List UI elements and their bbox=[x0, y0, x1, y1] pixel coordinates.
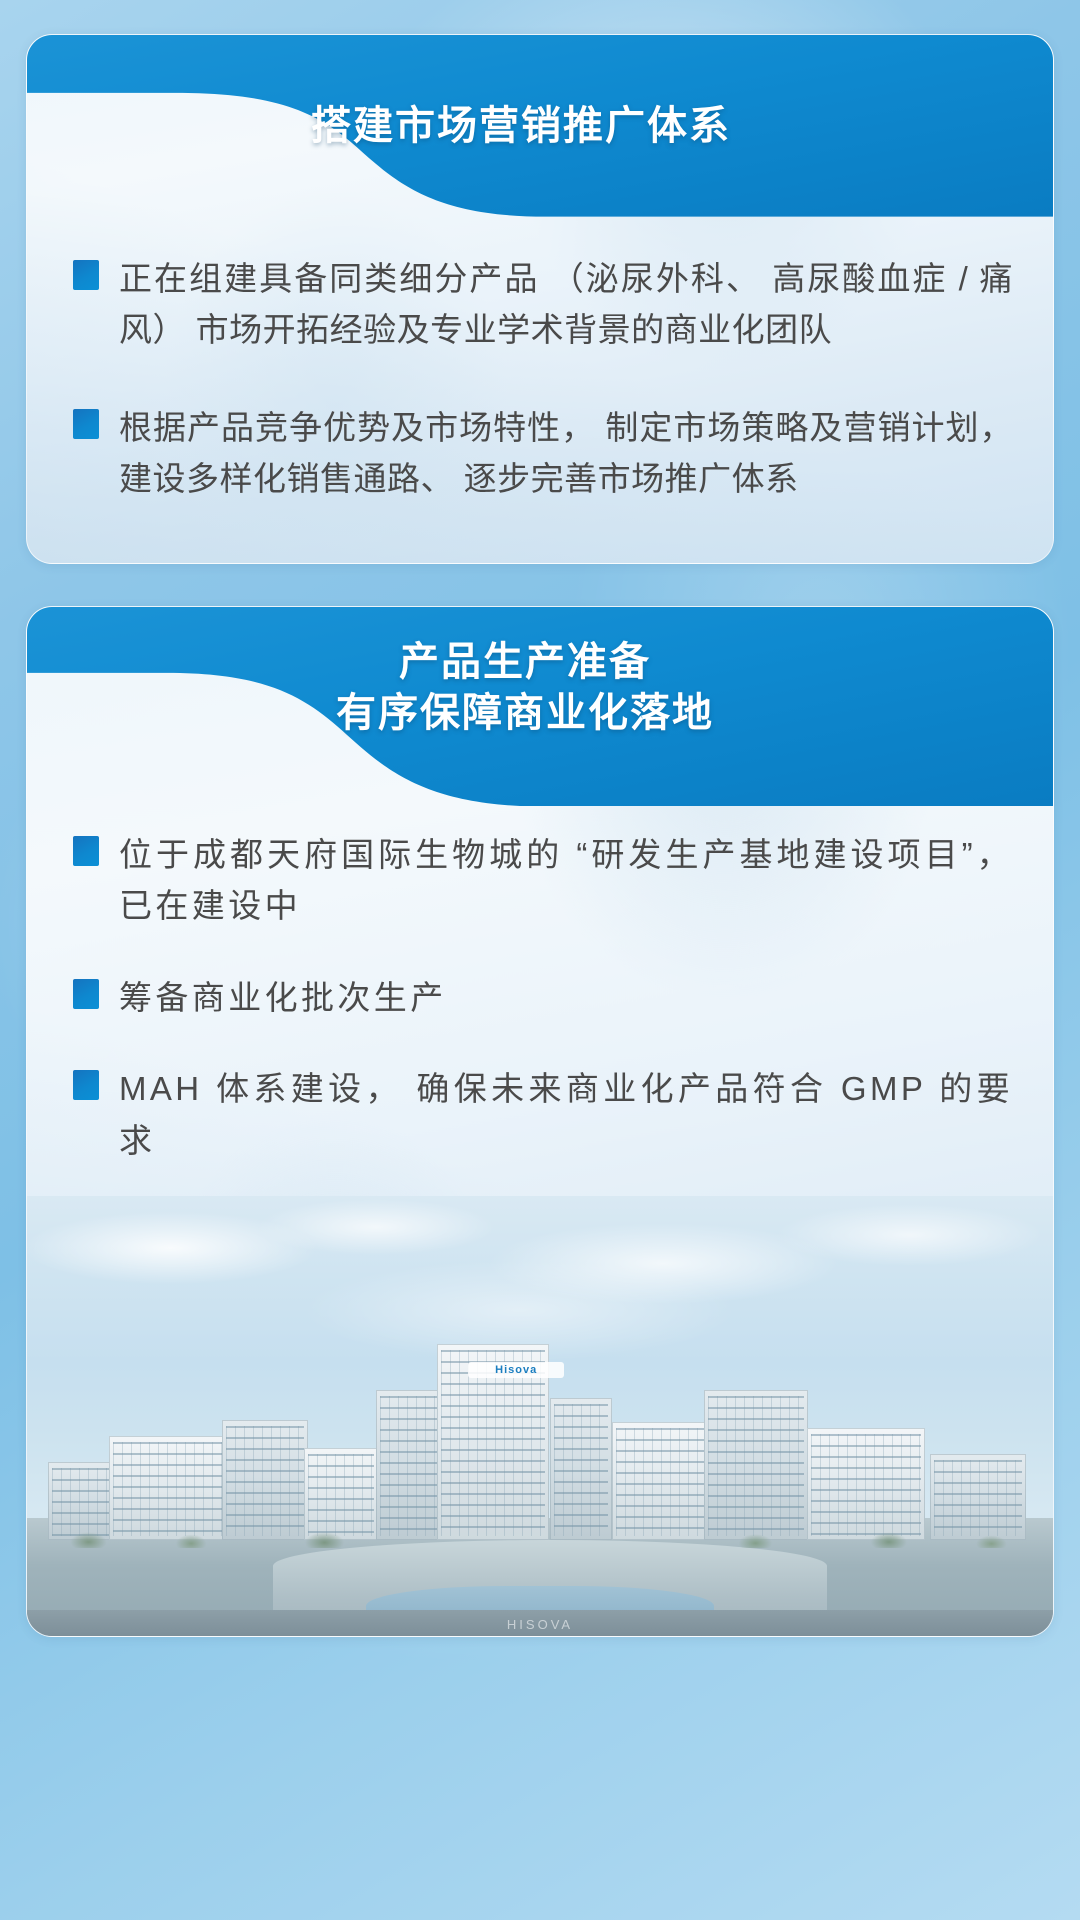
square-bullet-icon bbox=[73, 836, 99, 866]
bullet-text: 正在组建具备同类细分产品 （泌尿外科、 高尿酸血症 / 痛风） 市场开拓经验及专… bbox=[119, 253, 1013, 356]
card1-title: 搭建市场营销推广体系 bbox=[27, 93, 1053, 151]
list-item: 位于成都天府国际生物城的 “研发生产基地建设项目”， 已在建设中 bbox=[73, 829, 1013, 932]
card2-bullet-list: 位于成都天府国际生物城的 “研发生产基地建设项目”， 已在建设中 筹备商业化批次… bbox=[27, 807, 1053, 1196]
card2-title-line-1: 产品生产准备 bbox=[27, 637, 1023, 688]
bullet-text: 根据产品竞争优势及市场特性， 制定市场策略及营销计划， 建设多样化销售通路、 逐… bbox=[119, 402, 1013, 505]
card-production-readiness: 产品生产准备 有序保障商业化落地 位于成都天府国际生物城的 “研发生产基地建设项… bbox=[26, 606, 1054, 1637]
square-bullet-icon bbox=[73, 1070, 99, 1100]
card-divider-space bbox=[26, 564, 1054, 606]
list-item: 正在组建具备同类细分产品 （泌尿外科、 高尿酸血症 / 痛风） 市场开拓经验及专… bbox=[73, 253, 1013, 356]
photo-trees bbox=[27, 1518, 1053, 1548]
card2-title-line-2: 有序保障商业化落地 bbox=[27, 688, 1023, 739]
card1-header-banner: 搭建市场营销推广体系 bbox=[27, 35, 1053, 217]
square-bullet-icon bbox=[73, 409, 99, 439]
list-item: 筹备商业化批次生产 bbox=[73, 972, 1013, 1023]
bullet-text: MAH 体系建设， 确保未来商业化产品符合 GMP 的要求 bbox=[119, 1063, 1013, 1166]
card-marketing-system: 搭建市场营销推广体系 正在组建具备同类细分产品 （泌尿外科、 高尿酸血症 / 痛… bbox=[26, 34, 1054, 564]
bullet-text: 位于成都天府国际生物城的 “研发生产基地建设项目”， 已在建设中 bbox=[119, 829, 1013, 932]
square-bullet-icon bbox=[73, 260, 99, 290]
campus-photo: Hisova HISOVA bbox=[27, 1196, 1053, 1636]
card2-header-banner: 产品生产准备 有序保障商业化落地 bbox=[27, 607, 1053, 807]
card1-bullet-list: 正在组建具备同类细分产品 （泌尿外科、 高尿酸血症 / 痛风） 市场开拓经验及专… bbox=[27, 217, 1053, 563]
photo-watermark: HISOVA bbox=[507, 1617, 573, 1632]
card2-title: 产品生产准备 有序保障商业化落地 bbox=[27, 637, 1053, 739]
poster-page: 搭建市场营销推广体系 正在组建具备同类细分产品 （泌尿外科、 高尿酸血症 / 痛… bbox=[0, 0, 1080, 1920]
bullet-text: 筹备商业化批次生产 bbox=[119, 972, 447, 1023]
list-item: MAH 体系建设， 确保未来商业化产品符合 GMP 的要求 bbox=[73, 1063, 1013, 1166]
list-item: 根据产品竞争优势及市场特性， 制定市场策略及营销计划， 建设多样化销售通路、 逐… bbox=[73, 402, 1013, 505]
square-bullet-icon bbox=[73, 979, 99, 1009]
building-logo-sign: Hisova bbox=[468, 1362, 564, 1378]
building-logo-text: Hisova bbox=[495, 1364, 537, 1376]
